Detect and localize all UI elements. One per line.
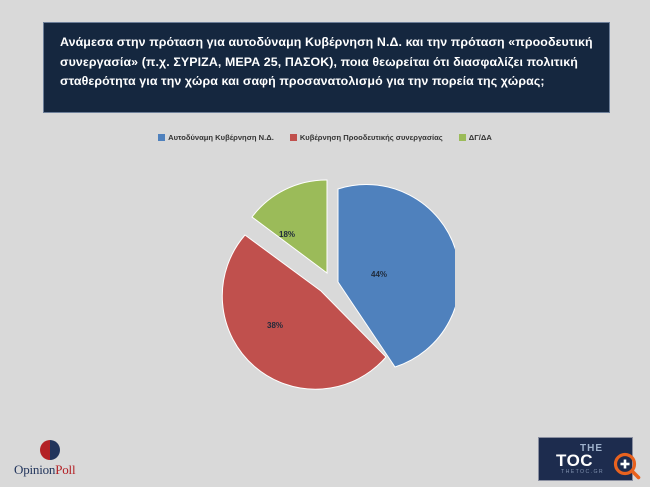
legend-label-autodynami: Αυτοδύναμη Κυβέρνηση Ν.Δ. [168,133,274,142]
magnifier-plus-icon[interactable] [613,452,641,480]
legend-item-proodeftiki[interactable]: Κυβέρνηση Προοδευτικής συνεργασίας [290,133,443,142]
legend-item-autodynami[interactable]: Αυτοδύναμη Κυβέρνηση Ν.Δ. [158,133,274,142]
opinionpoll-logo: OpinionPoll [14,440,124,482]
thetoc-subtitle: THETOC.GR [561,469,604,475]
thetoc-word-toc: TOC [556,451,593,471]
legend-swatch-green [459,134,466,141]
opinionpoll-circle-icon [40,440,60,460]
question-text: Ανάμεσα στην πρόταση για αυτοδύναμη Κυβέ… [60,33,593,92]
pie-chart: 44% 38% 18% [205,160,455,410]
chart-legend: Αυτοδύναμη Κυβέρνηση Ν.Δ. Κυβέρνηση Προο… [0,133,650,142]
legend-swatch-red [290,134,297,141]
opinionpoll-wordmark: OpinionPoll [14,462,124,478]
opinionpoll-word-poll: Poll [55,462,75,477]
opinionpoll-word-opinion: Opinion [14,462,55,477]
question-banner: Ανάμεσα στην πρόταση για αυτοδύναμη Κυβέ… [43,22,610,113]
pie-chart-svg [205,160,455,410]
legend-swatch-blue [158,134,165,141]
legend-label-dg-da: ΔΓ/ΔΑ [469,133,492,142]
legend-item-dg-da[interactable]: ΔΓ/ΔΑ [459,133,492,142]
legend-label-proodeftiki: Κυβέρνηση Προοδευτικής συνεργασίας [300,133,443,142]
